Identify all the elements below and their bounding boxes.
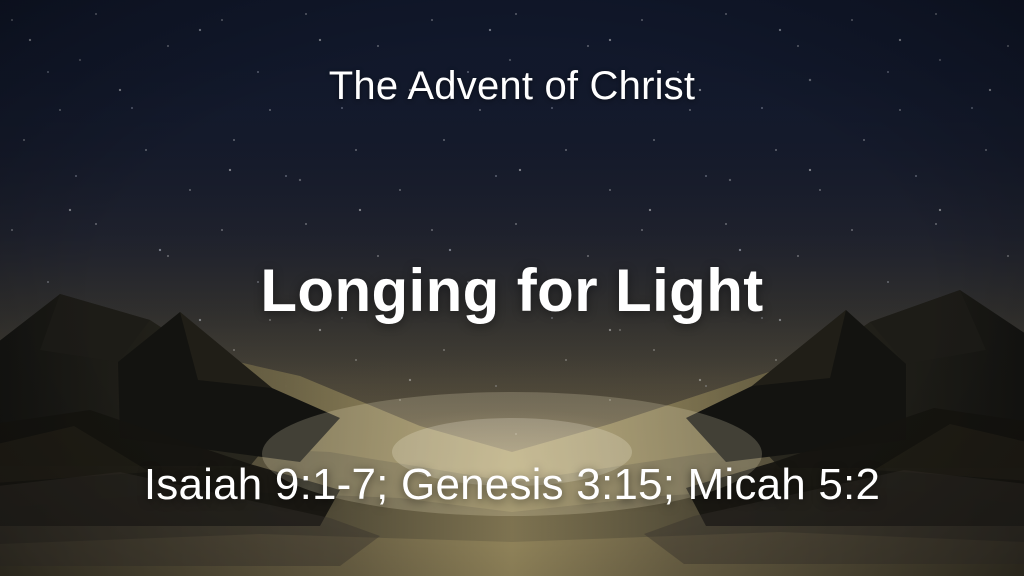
presentation-slide: The Advent of Christ Longing for Light I…: [0, 0, 1024, 576]
valley-glow-core: [392, 418, 632, 486]
mountain-landscape: [0, 276, 1024, 576]
